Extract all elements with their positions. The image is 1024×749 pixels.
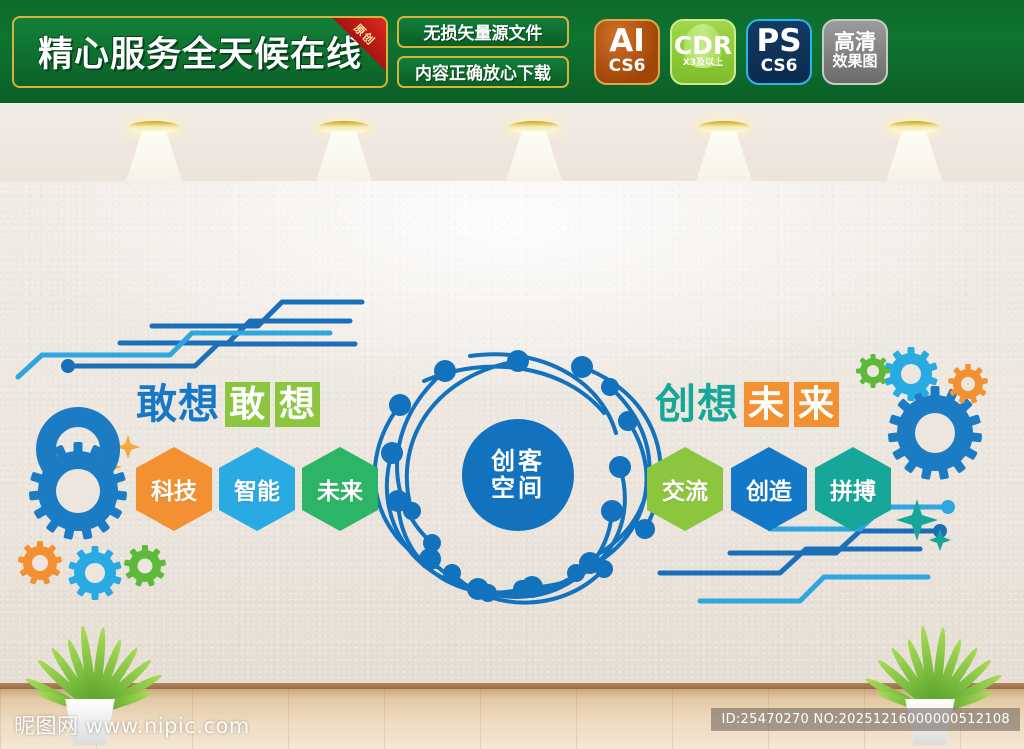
promo-banner: 精心服务全天候在线 原创 无损矢量源文件 内容正确放心下载 AI CS6 CDR… <box>0 0 1024 103</box>
ceiling-lamp-icon <box>508 121 560 134</box>
banner-headline: 精心服务全天候在线 <box>38 26 362 77</box>
ceiling-lamp-icon <box>318 121 370 134</box>
ceiling-lamp-icon <box>888 121 940 134</box>
banner-pill-download: 内容正确放心下载 <box>397 56 569 88</box>
ceiling-lamp-icon <box>698 121 750 134</box>
ps-badge-title: PS <box>756 27 801 56</box>
center-circle-line1: 创客 <box>491 448 545 475</box>
gear-icon-left-large <box>36 407 120 491</box>
banner-pill-group: 无损矢量源文件 内容正确放心下载 <box>397 16 569 88</box>
right-title-box-2: 来 <box>794 382 839 427</box>
banner-pill-download-label: 内容正确放心下载 <box>415 59 551 84</box>
room-scene: 敢想 敢 想 科技 智能 未来 创客 空间 创想 未 <box>0 103 1024 749</box>
hexagon-chuangzao-label: 创造 <box>746 472 792 506</box>
asset-id-tag: ID:25470270 NO:20251216000000512108 <box>711 708 1020 731</box>
left-title: 敢想 敢 想 <box>136 382 320 427</box>
left-title-plain: 敢想 <box>136 384 220 425</box>
screenshot-root: 精心服务全天候在线 原创 无损矢量源文件 内容正确放心下载 AI CS6 CDR… <box>0 0 1024 749</box>
ai-badge: AI CS6 <box>594 19 660 85</box>
hexagon-jiaoliu-label: 交流 <box>662 472 708 506</box>
banner-pill-vector: 无损矢量源文件 <box>397 16 569 48</box>
hexagon-keji-label: 科技 <box>151 472 197 506</box>
circuit-node <box>941 500 955 514</box>
software-badge-group: AI CS6 CDR X3及以上 PS CS6 高清 效果图 <box>594 19 888 85</box>
left-title-box-1: 敢 <box>225 382 270 427</box>
hd-badge: 高清 效果图 <box>822 19 888 85</box>
banner-headline-box: 精心服务全天候在线 原创 <box>12 16 388 88</box>
cdr-badge: CDR X3及以上 <box>670 19 736 85</box>
hexagon-zhineng-label: 智能 <box>234 472 280 506</box>
center-circle-line2: 空间 <box>491 475 545 502</box>
ps-badge-version: CS6 <box>761 57 798 76</box>
cdr-badge-title: CDR <box>674 34 732 58</box>
hexagon-pinbo-label: 拼搏 <box>830 472 876 506</box>
right-title-box-1: 未 <box>744 382 789 427</box>
hd-badge-subtitle: 效果图 <box>832 53 877 70</box>
cdr-badge-version: X3及以上 <box>683 58 723 69</box>
left-title-box-2: 想 <box>275 382 320 427</box>
center-circle: 创客 空间 <box>462 419 574 531</box>
ceiling-lamp-icon <box>128 121 180 134</box>
right-title-plain: 创想 <box>655 384 739 425</box>
site-watermark: 昵图网 www.nipic.com <box>14 710 250 740</box>
hd-badge-title: 高清 <box>834 33 876 53</box>
right-title: 创想 未 来 <box>655 382 839 427</box>
ai-badge-version: CS6 <box>609 57 646 76</box>
ai-badge-title: AI <box>609 27 645 56</box>
circuit-node <box>61 359 75 373</box>
hexagon-weilai-label: 未来 <box>317 472 363 506</box>
ps-badge: PS CS6 <box>746 19 812 85</box>
banner-pill-vector-label: 无损矢量源文件 <box>424 19 543 44</box>
